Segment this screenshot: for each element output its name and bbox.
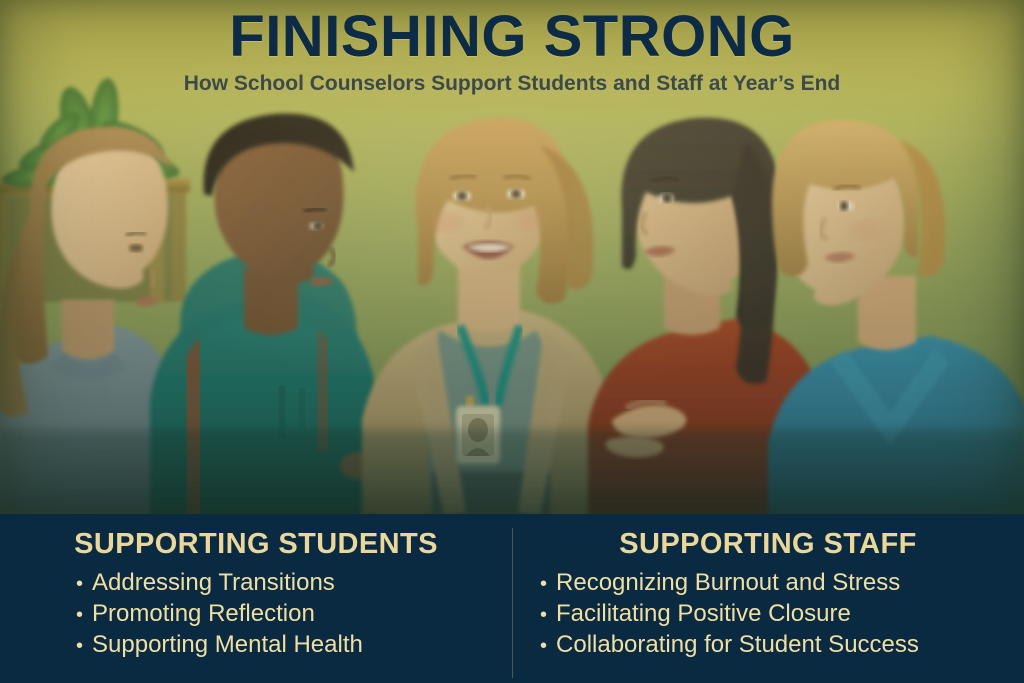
bullet-icon: • [540,636,547,656]
bullet-icon: • [540,605,547,625]
column-supporting-students: SUPPORTING STUDENTS • Addressing Transit… [0,514,512,683]
list-item: • Addressing Transitions [76,567,512,598]
list-item: • Collaborating for Student Success [540,629,1024,660]
column-title-students: SUPPORTING STUDENTS [0,528,512,561]
list-item: • Promoting Reflection [76,598,512,629]
list-item-label: Facilitating Positive Closure [556,598,851,629]
list-item: • Supporting Mental Health [76,629,512,660]
bullet-icon: • [76,574,83,594]
bullet-icon: • [76,605,83,625]
list-supporting-staff: • Recognizing Burnout and Stress • Facil… [512,567,1024,661]
bullet-icon: • [540,574,547,594]
infographic-poster: FINISHING STRONG How School Counselors S… [0,0,1024,683]
scene-artwork [0,0,1024,516]
column-divider [512,528,513,678]
column-supporting-staff: SUPPORTING STAFF • Recognizing Burnout a… [512,514,1024,683]
list-item: • Recognizing Burnout and Stress [540,567,1024,598]
list-supporting-students: • Addressing Transitions • Promoting Ref… [0,567,512,661]
list-item: • Facilitating Positive Closure [540,598,1024,629]
list-item-label: Addressing Transitions [92,567,335,598]
list-item-label: Collaborating for Student Success [556,629,919,660]
illustration-scene [0,0,1024,516]
column-title-staff: SUPPORTING STAFF [512,528,1024,561]
list-item-label: Promoting Reflection [92,598,315,629]
list-item-label: Supporting Mental Health [92,629,363,660]
list-item-label: Recognizing Burnout and Stress [556,567,900,598]
bullet-icon: • [76,636,83,656]
